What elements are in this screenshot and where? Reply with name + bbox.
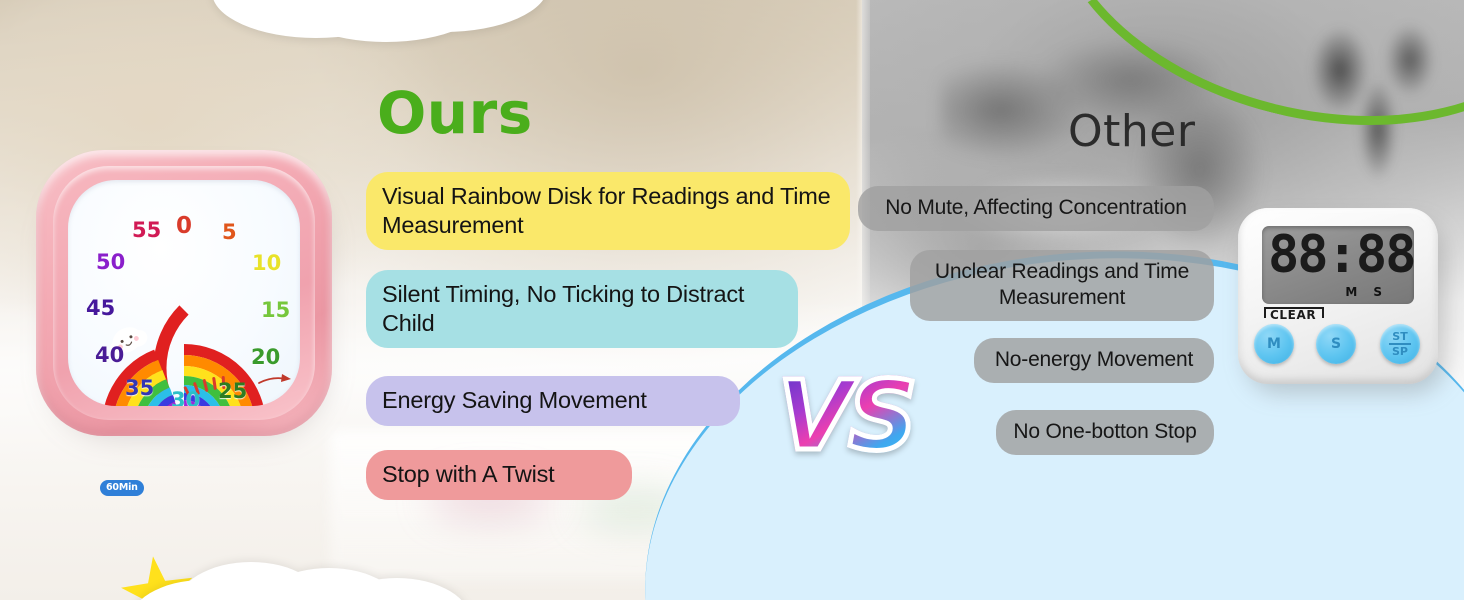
dial-number-0: 0 (176, 215, 192, 238)
dial-number-55: 55 (132, 220, 161, 241)
analog-rainbow-timer: 0 5 10 15 20 25 30 35 40 45 50 55 60Min (36, 150, 336, 446)
other-feature-badge[interactable]: No-energy Movement (974, 338, 1214, 383)
dial-number-35: 35 (125, 378, 154, 399)
lcd-digits: 88:88 (1268, 229, 1414, 281)
direction-arrow-icon (258, 374, 294, 388)
minutes-button[interactable]: M (1254, 324, 1294, 364)
dial-number-45: 45 (86, 298, 115, 319)
dial-number-15: 15 (261, 300, 290, 321)
other-feature-badge[interactable]: No Mute, Affecting Concentration (858, 186, 1214, 231)
clear-label: CLEAR (1270, 308, 1316, 322)
timer-dial-face: 0 5 10 15 20 25 30 35 40 45 50 55 (68, 180, 300, 406)
other-heading: Other (1068, 106, 1195, 157)
digital-timer: 88:88 MS CLEAR M S ST SP (1238, 208, 1450, 398)
digital-timer-body: 88:88 MS CLEAR M S ST SP (1238, 208, 1438, 384)
comparison-infographic: 0 5 10 15 20 25 30 35 40 45 50 55 60Min … (0, 0, 1464, 600)
lcd-unit-labels: MS (1345, 285, 1398, 299)
ours-feature-badge[interactable]: Energy Saving Movement (366, 376, 740, 426)
vs-logo: VS (778, 368, 913, 464)
other-feature-badge[interactable]: No One-botton Stop (996, 410, 1214, 455)
lcd-screen: 88:88 MS (1262, 226, 1414, 304)
dial-number-40: 40 (95, 345, 124, 366)
ours-feature-badge[interactable]: Visual Rainbow Disk for Readings and Tim… (366, 172, 850, 250)
dial-number-5: 5 (222, 222, 237, 243)
dial-number-30: 30 (171, 390, 200, 406)
duration-badge: 60Min (100, 480, 144, 496)
dial-number-20: 20 (251, 347, 280, 368)
other-feature-badge[interactable]: Unclear Readings and Time Measurement (910, 250, 1214, 321)
dial-number-50: 50 (96, 252, 125, 273)
ours-heading: Ours (377, 79, 533, 147)
dial-number-25: 25 (218, 381, 247, 402)
ours-feature-badge[interactable]: Silent Timing, No Ticking to Distract Ch… (366, 270, 798, 348)
seconds-button[interactable]: S (1316, 324, 1356, 364)
dial-number-10: 10 (252, 253, 281, 274)
start-stop-button[interactable]: ST SP (1380, 324, 1420, 364)
ours-feature-badge[interactable]: Stop with A Twist (366, 450, 632, 500)
